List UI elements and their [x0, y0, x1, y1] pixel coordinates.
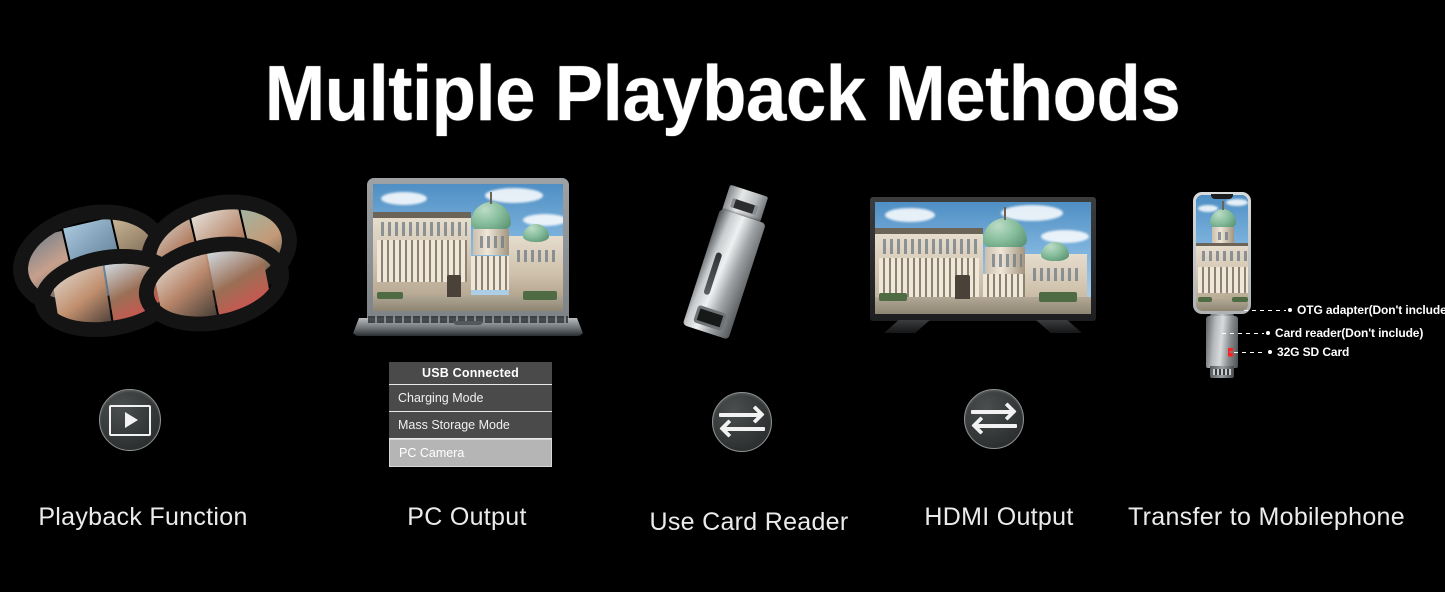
play-triangle-shape: [125, 412, 138, 428]
caption-transfer-to-mobilephone: Transfer to Mobilephone: [1128, 503, 1390, 532]
page-title: Multiple Playback Methods: [51, 48, 1395, 139]
tv-frame: [870, 197, 1096, 321]
castle-dome: [1210, 209, 1236, 229]
cloud: [885, 208, 935, 222]
film-photo: [207, 243, 272, 314]
right-windows: [513, 250, 559, 262]
castle-right-wing: [509, 236, 563, 298]
callout-label-sd-card: 32G SD Card: [1277, 345, 1349, 359]
usb-menu-header: USB Connected: [389, 362, 552, 385]
facade-windows: [1198, 251, 1248, 261]
transfer-exchange-icon-card-reader[interactable]: [712, 392, 772, 452]
tv-foot-right: [1036, 320, 1082, 333]
usb-menu-item-mass-storage-mode[interactable]: Mass Storage Mode: [389, 412, 552, 439]
center-colonnade: [471, 256, 509, 290]
usb-menu-item-pc-camera[interactable]: PC Camera: [389, 439, 552, 467]
dome-spire: [1222, 201, 1224, 210]
phone-screen: [1196, 195, 1248, 311]
callout-leader-line: [1244, 310, 1286, 311]
arrow-head-right: [746, 405, 764, 423]
laptop-showing-castle: [352, 178, 584, 336]
arrow-head-left: [971, 416, 989, 434]
dome-windows: [988, 254, 1022, 267]
left-windows: [879, 239, 979, 254]
arrow-head-right: [998, 402, 1016, 420]
video-play-icon[interactable]: [99, 389, 161, 451]
caption-hdmi-output: HDMI Output: [870, 503, 1128, 532]
dome-windows: [1214, 232, 1232, 240]
cloud: [1041, 230, 1089, 243]
film-photo: [152, 254, 217, 325]
small-dome: [1041, 242, 1069, 261]
cloud: [485, 188, 543, 203]
card-reader-body: [1206, 316, 1238, 368]
greenery: [523, 291, 557, 300]
greenery: [1232, 297, 1248, 302]
smartphone: [1193, 192, 1251, 314]
roofline: [1196, 243, 1248, 246]
cloud: [1226, 199, 1248, 206]
arrow-head-left: [719, 419, 737, 437]
callout-dot: [1268, 350, 1272, 354]
greenery: [1198, 297, 1212, 302]
dome-spire: [490, 192, 492, 204]
cloud: [381, 192, 427, 205]
dome-windows: [476, 236, 506, 248]
callout-leader-line: [1222, 333, 1264, 334]
transfer-exchange-icon-hdmi[interactable]: [964, 389, 1024, 449]
callout-leader-line: [1234, 352, 1266, 353]
film-strip-infinity-photos: [12, 192, 302, 340]
exchange-arrows-shape: [719, 405, 765, 439]
laptop-screen: [373, 184, 563, 311]
callout-label-otg-adapter: OTG adapter(Don't include): [1297, 303, 1445, 317]
callout-dot: [1288, 308, 1292, 312]
greenery: [879, 293, 907, 301]
usb-flash-drive: [656, 177, 812, 364]
caption-pc-output: PC Output: [338, 503, 596, 532]
film-photo: [51, 266, 111, 329]
tv-foot-left: [884, 320, 930, 333]
left-windows: [377, 222, 467, 236]
tv-screen: [875, 202, 1091, 314]
castle-image: [875, 202, 1091, 314]
laptop-lid: [367, 178, 569, 320]
usb-menu-item-charging-mode[interactable]: Charging Mode: [389, 385, 552, 412]
film-photos-lower-right: [148, 242, 280, 326]
promo-banner: Multiple Playback Methods: [0, 0, 1445, 592]
play-frame-shape: [109, 405, 151, 436]
small-dome: [523, 224, 549, 242]
caption-playback-function: Playback Function: [14, 503, 272, 532]
callout-dot: [1266, 331, 1270, 335]
greenery: [377, 292, 403, 299]
left-roofline: [875, 228, 983, 234]
laptop-trackpad-notch: [453, 321, 483, 325]
phone-notch: [1211, 194, 1233, 199]
colonnade: [1198, 267, 1248, 293]
exchange-arrows-shape: [971, 402, 1017, 436]
callout-label-card-reader: Card reader(Don't include): [1275, 326, 1423, 340]
sd-card-slot: [1210, 366, 1234, 378]
greenery: [1039, 292, 1077, 302]
castle-image: [373, 184, 563, 311]
equestrian-statue: [955, 275, 970, 299]
left-roofline: [373, 212, 471, 218]
caption-use-card-reader: Use Card Reader: [620, 508, 878, 537]
castle-image: [1196, 195, 1248, 311]
callout-sd-card: 32G SD Card: [1228, 345, 1349, 359]
red-arrow-marker-icon: [1228, 348, 1233, 357]
equestrian-statue: [447, 275, 461, 297]
usb-connected-menu[interactable]: USB Connected Charging Mode Mass Storage…: [389, 362, 552, 467]
callout-otg-adapter: OTG adapter(Don't include): [1244, 303, 1445, 317]
right-windows: [1029, 268, 1081, 281]
callout-card-reader: Card reader(Don't include): [1222, 326, 1423, 340]
dome-spire: [1004, 207, 1006, 220]
television-showing-castle: [870, 197, 1096, 333]
cloud: [523, 214, 563, 226]
